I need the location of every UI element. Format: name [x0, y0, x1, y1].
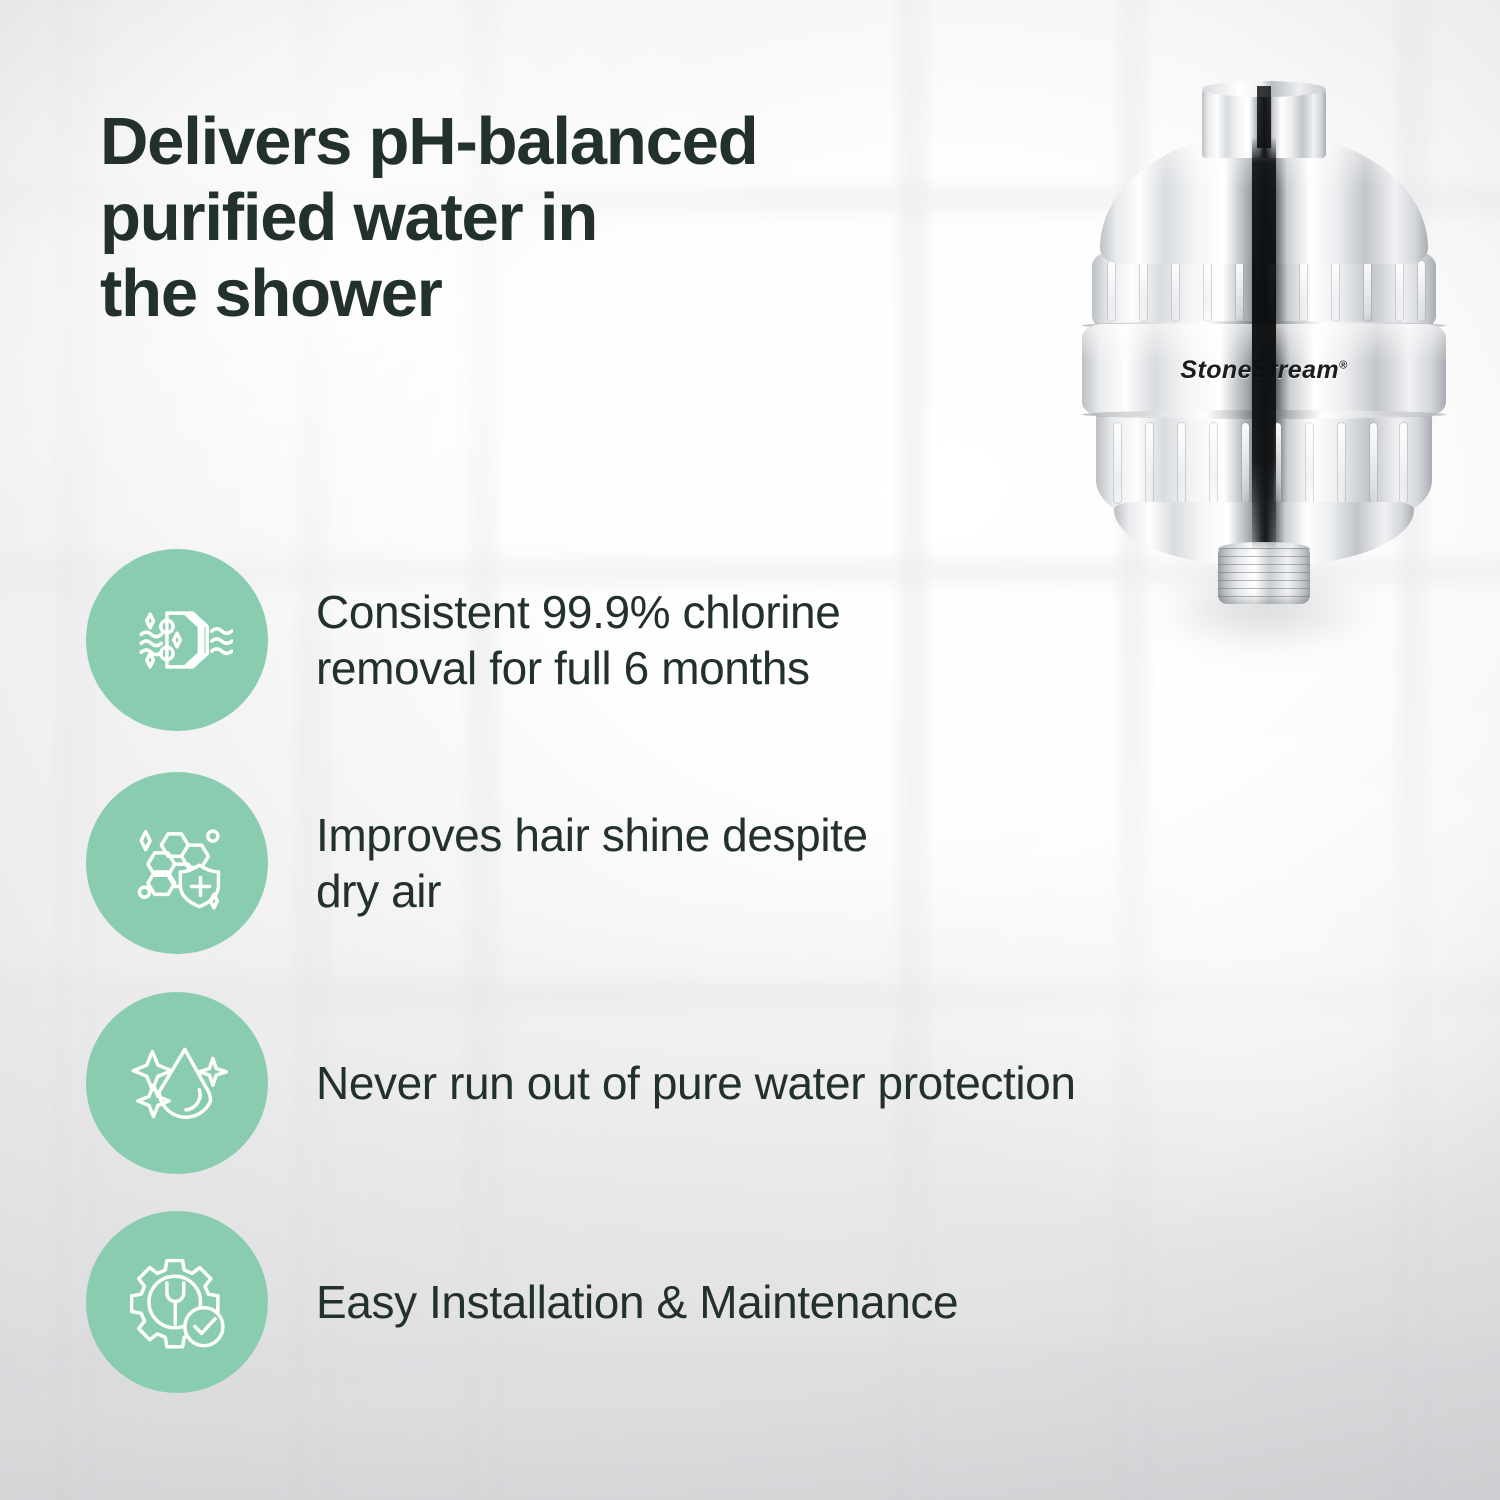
feature-item-easy-installation: Easy Installation & Maintenance — [86, 1211, 958, 1393]
feature-text-line: Easy Installation & Maintenance — [316, 1274, 958, 1330]
feature-icon-badge — [86, 549, 268, 731]
feature-text: Improves hair shine despite dry air — [316, 807, 868, 919]
headline-line-3: the shower — [100, 256, 980, 332]
gear-wrench-check-icon — [121, 1246, 233, 1358]
headline-line-1: Delivers pH-balanced — [100, 104, 980, 180]
product-threaded-outlet — [1218, 548, 1310, 604]
product-center-reflection — [1252, 138, 1276, 550]
molecule-shield-icon — [121, 807, 233, 919]
feature-text-line: dry air — [316, 863, 868, 919]
registered-mark: ® — [1339, 360, 1348, 372]
sparkling-water-drop-icon — [121, 1027, 233, 1139]
feature-icon-badge — [86, 992, 268, 1174]
feature-text-line: Improves hair shine despite — [316, 807, 868, 863]
product-cap-reflection — [1257, 86, 1271, 148]
feature-text-line: Consistent 99.9% chlorine — [316, 584, 840, 640]
feature-icon-badge — [86, 772, 268, 954]
feature-item-pure-water: Never run out of pure water protection — [86, 992, 1076, 1174]
feature-item-hair-shine: Improves hair shine despite dry air — [86, 772, 868, 954]
headline-line-2: purified water in — [100, 180, 980, 256]
feature-text: Consistent 99.9% chlorine removal for fu… — [316, 584, 840, 696]
feature-text-line: removal for full 6 months — [316, 640, 840, 696]
feature-text: Never run out of pure water protection — [316, 1055, 1076, 1111]
product-image-shower-filter: StoneStream® — [1066, 78, 1462, 628]
feature-icon-badge — [86, 1211, 268, 1393]
feature-text: Easy Installation & Maintenance — [316, 1274, 958, 1330]
filter-layers-icon — [121, 584, 233, 696]
page-headline: Delivers pH-balanced purified water in t… — [100, 104, 980, 332]
feature-text-line: Never run out of pure water protection — [316, 1055, 1076, 1111]
feature-item-chlorine-removal: Consistent 99.9% chlorine removal for fu… — [86, 549, 840, 731]
